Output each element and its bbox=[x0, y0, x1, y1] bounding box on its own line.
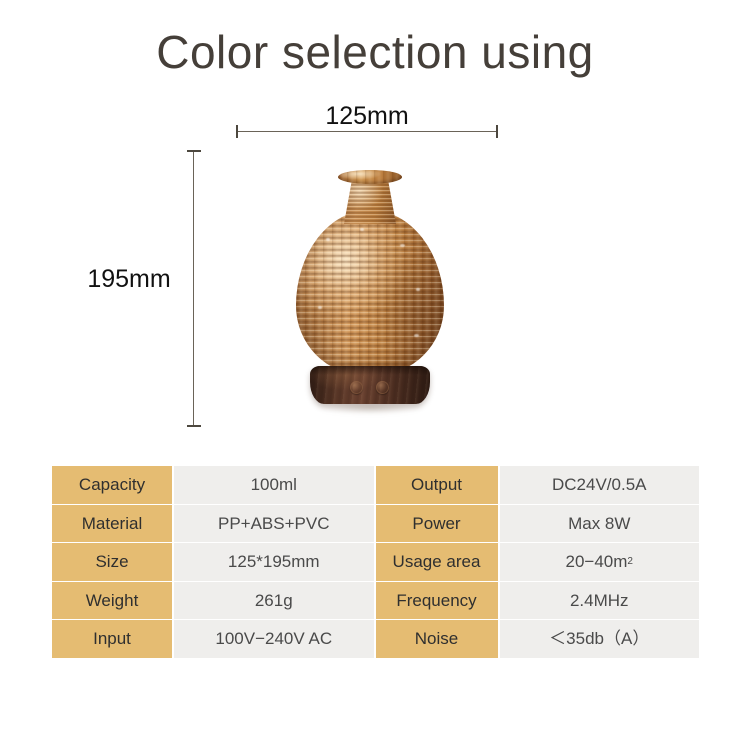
spec-label-input: Input bbox=[52, 620, 172, 658]
product-image-diffuser bbox=[282, 168, 458, 430]
power-button-icon[interactable] bbox=[350, 381, 363, 394]
usage-area-text: 20−40m bbox=[566, 553, 628, 570]
spec-label-frequency: Frequency bbox=[376, 582, 498, 620]
height-dimension-cap-top bbox=[187, 150, 201, 152]
spec-value-frequency: 2.4MHz bbox=[500, 582, 700, 620]
light-button-icon[interactable] bbox=[376, 381, 389, 394]
spec-value-weight: 261g bbox=[174, 582, 374, 620]
spec-value-noise: ＜35db（A） bbox=[500, 620, 700, 658]
height-dimension-label: 195mm bbox=[74, 265, 184, 294]
weave-gap bbox=[318, 306, 322, 309]
spec-value-output: DC24V/0.5A bbox=[500, 466, 700, 504]
spec-value-usage-area: 20−40m2 bbox=[500, 543, 700, 581]
spec-label-noise: Noise bbox=[376, 620, 498, 658]
width-dimension-label: 125mm bbox=[236, 102, 498, 131]
product-spec-page: { "title": "Color selection using", "dim… bbox=[0, 0, 750, 750]
base-top-shadow bbox=[310, 366, 430, 375]
weave-gap bbox=[414, 334, 419, 337]
spec-value-material: PP+ABS+PVC bbox=[174, 505, 374, 543]
weave-gap bbox=[360, 228, 364, 231]
spec-value-size: 125*195mm bbox=[174, 543, 374, 581]
wicker-vase-rim bbox=[338, 170, 402, 184]
spec-label-usage-area: Usage area bbox=[376, 543, 498, 581]
specification-table: Capacity 100ml Output DC24V/0.5A Materia… bbox=[52, 466, 699, 658]
spec-label-material: Material bbox=[52, 505, 172, 543]
weave-gap bbox=[416, 288, 420, 291]
rim-coil-strands bbox=[338, 170, 402, 184]
width-dimension-cap-right bbox=[496, 125, 498, 138]
spec-label-weight: Weight bbox=[52, 582, 172, 620]
weave-vertical-spokes bbox=[296, 210, 444, 375]
spec-label-power: Power bbox=[376, 505, 498, 543]
weave-gap bbox=[400, 244, 405, 247]
wicker-vase-neck bbox=[344, 178, 396, 224]
spec-label-output: Output bbox=[376, 466, 498, 504]
neck-weave-strands bbox=[344, 178, 396, 224]
width-dimension-cap-left bbox=[236, 125, 238, 138]
spec-value-power: Max 8W bbox=[500, 505, 700, 543]
spec-value-input: 100V−240V AC bbox=[174, 620, 374, 658]
spec-value-capacity: 100ml bbox=[174, 466, 374, 504]
usage-area-superscript: 2 bbox=[627, 557, 633, 567]
width-dimension-line bbox=[236, 131, 497, 132]
spec-label-size: Size bbox=[52, 543, 172, 581]
height-dimension-cap-bottom bbox=[187, 425, 201, 427]
diffuser-wood-base bbox=[310, 366, 430, 404]
height-dimension-line bbox=[193, 150, 194, 426]
wicker-vase-body bbox=[296, 210, 444, 375]
page-title: Color selection using bbox=[0, 26, 750, 79]
weave-gap bbox=[326, 238, 330, 241]
spec-label-capacity: Capacity bbox=[52, 466, 172, 504]
